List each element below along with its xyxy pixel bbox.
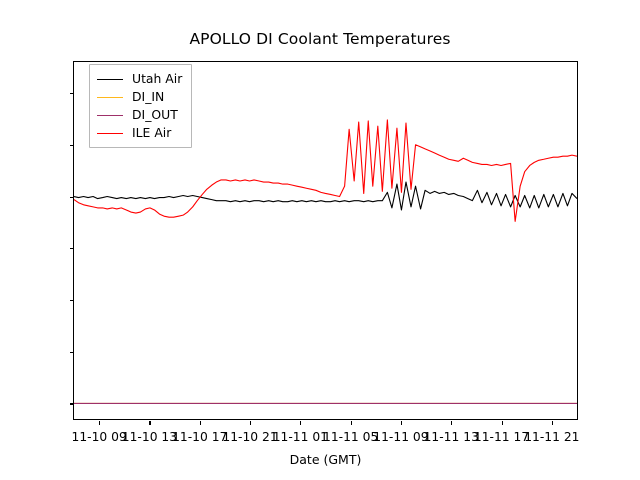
- chart-title: APOLLO DI Coolant Temperatures: [0, 30, 640, 48]
- x-tick-label: 11-11 17: [474, 430, 529, 444]
- legend-item-ile-air[interactable]: ILE Air: [97, 124, 182, 142]
- x-tick-mark: [552, 421, 553, 425]
- legend-item-utah-air[interactable]: Utah Air: [97, 70, 182, 88]
- x-tick-label: 11-11 09: [373, 430, 428, 444]
- x-tick-label: 11-11 05: [323, 430, 378, 444]
- x-tick-mark: [401, 421, 402, 425]
- x-tick-label: 11-11 21: [524, 430, 579, 444]
- legend-item-di-out[interactable]: DI_OUT: [97, 106, 182, 124]
- legend-item-di-in[interactable]: DI_IN: [97, 88, 182, 106]
- y-tick-mark: [70, 300, 74, 301]
- x-tick-label: 11-10 09: [71, 430, 126, 444]
- legend-label: DI_IN: [132, 91, 164, 103]
- x-tick-label: 11-11 13: [424, 430, 479, 444]
- x-axis-label: Date (GMT): [73, 452, 578, 467]
- chart-legend: Utah AirDI_INDI_OUTILE Air: [89, 64, 192, 148]
- legend-label: Utah Air: [132, 73, 182, 85]
- x-tick-mark: [200, 421, 201, 425]
- x-tick-mark: [502, 421, 503, 425]
- legend-color-swatch: [97, 79, 123, 80]
- x-tick-label: 11-10 21: [222, 430, 277, 444]
- x-tick-mark: [351, 421, 352, 425]
- y-tick-mark: [70, 197, 74, 198]
- x-tick-mark: [250, 421, 251, 425]
- y-tick-mark: [70, 248, 74, 249]
- legend-label: ILE Air: [132, 127, 171, 139]
- x-tick-label: 11-10 17: [172, 430, 227, 444]
- legend-color-swatch: [97, 97, 123, 98]
- x-tick-mark: [451, 421, 452, 425]
- legend-color-swatch: [97, 115, 123, 116]
- series-line-utah-air: [74, 182, 577, 210]
- y-tick-mark: [70, 93, 74, 94]
- legend-color-swatch: [97, 133, 123, 134]
- x-tick-mark: [149, 421, 150, 425]
- legend-label: DI_OUT: [132, 109, 178, 121]
- y-tick-mark: [70, 403, 74, 404]
- chart-figure: APOLLO DI Coolant Temperatures Temperatu…: [0, 0, 640, 480]
- x-tick-mark: [99, 421, 100, 425]
- x-tick-label: 11-11 01: [273, 430, 328, 444]
- y-tick-mark: [70, 145, 74, 146]
- y-tick-mark: [70, 352, 74, 353]
- x-tick-mark: [300, 421, 301, 425]
- x-tick-label: 11-10 13: [122, 430, 177, 444]
